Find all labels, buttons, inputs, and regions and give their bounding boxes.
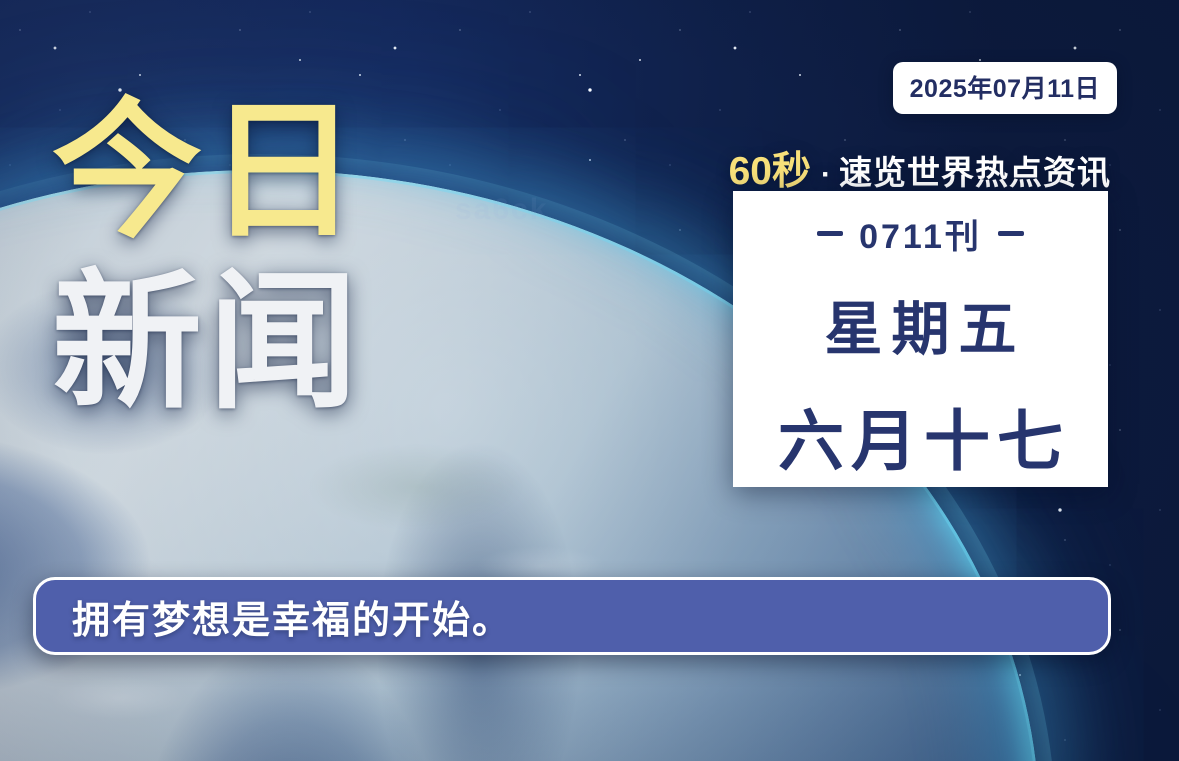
issue-row: 0711刊 xyxy=(817,209,1024,258)
title-line-today: 今日 xyxy=(52,98,482,245)
news-poster: sa6ck 今日 新闻 2025年07月11日 60秒 · 速览世界热点资讯 0… xyxy=(0,0,1179,761)
quote-text: 拥有梦想是幸福的开始。 xyxy=(36,589,512,644)
title-line-news: 新闻 xyxy=(52,269,482,416)
lunar-date-label: 六月十七 xyxy=(771,388,1070,484)
tagline: 60秒 · 速览世界热点资讯 xyxy=(729,140,1111,196)
dash-right-icon xyxy=(998,231,1024,236)
tagline-highlight: 60秒 xyxy=(729,140,811,196)
tagline-rest: 速览世界热点资讯 xyxy=(839,146,1111,194)
weekday-label: 星期五 xyxy=(815,282,1025,366)
date-info-card: 0711刊 星期五 六月十七 xyxy=(733,191,1108,487)
poster-title: 今日 新闻 xyxy=(52,98,482,416)
date-badge: 2025年07月11日 xyxy=(893,62,1117,114)
dash-left-icon xyxy=(817,231,843,236)
issue-number: 0711刊 xyxy=(859,209,982,258)
quote-bar: 拥有梦想是幸福的开始。 xyxy=(33,577,1111,655)
tagline-separator-icon: · xyxy=(811,158,839,192)
